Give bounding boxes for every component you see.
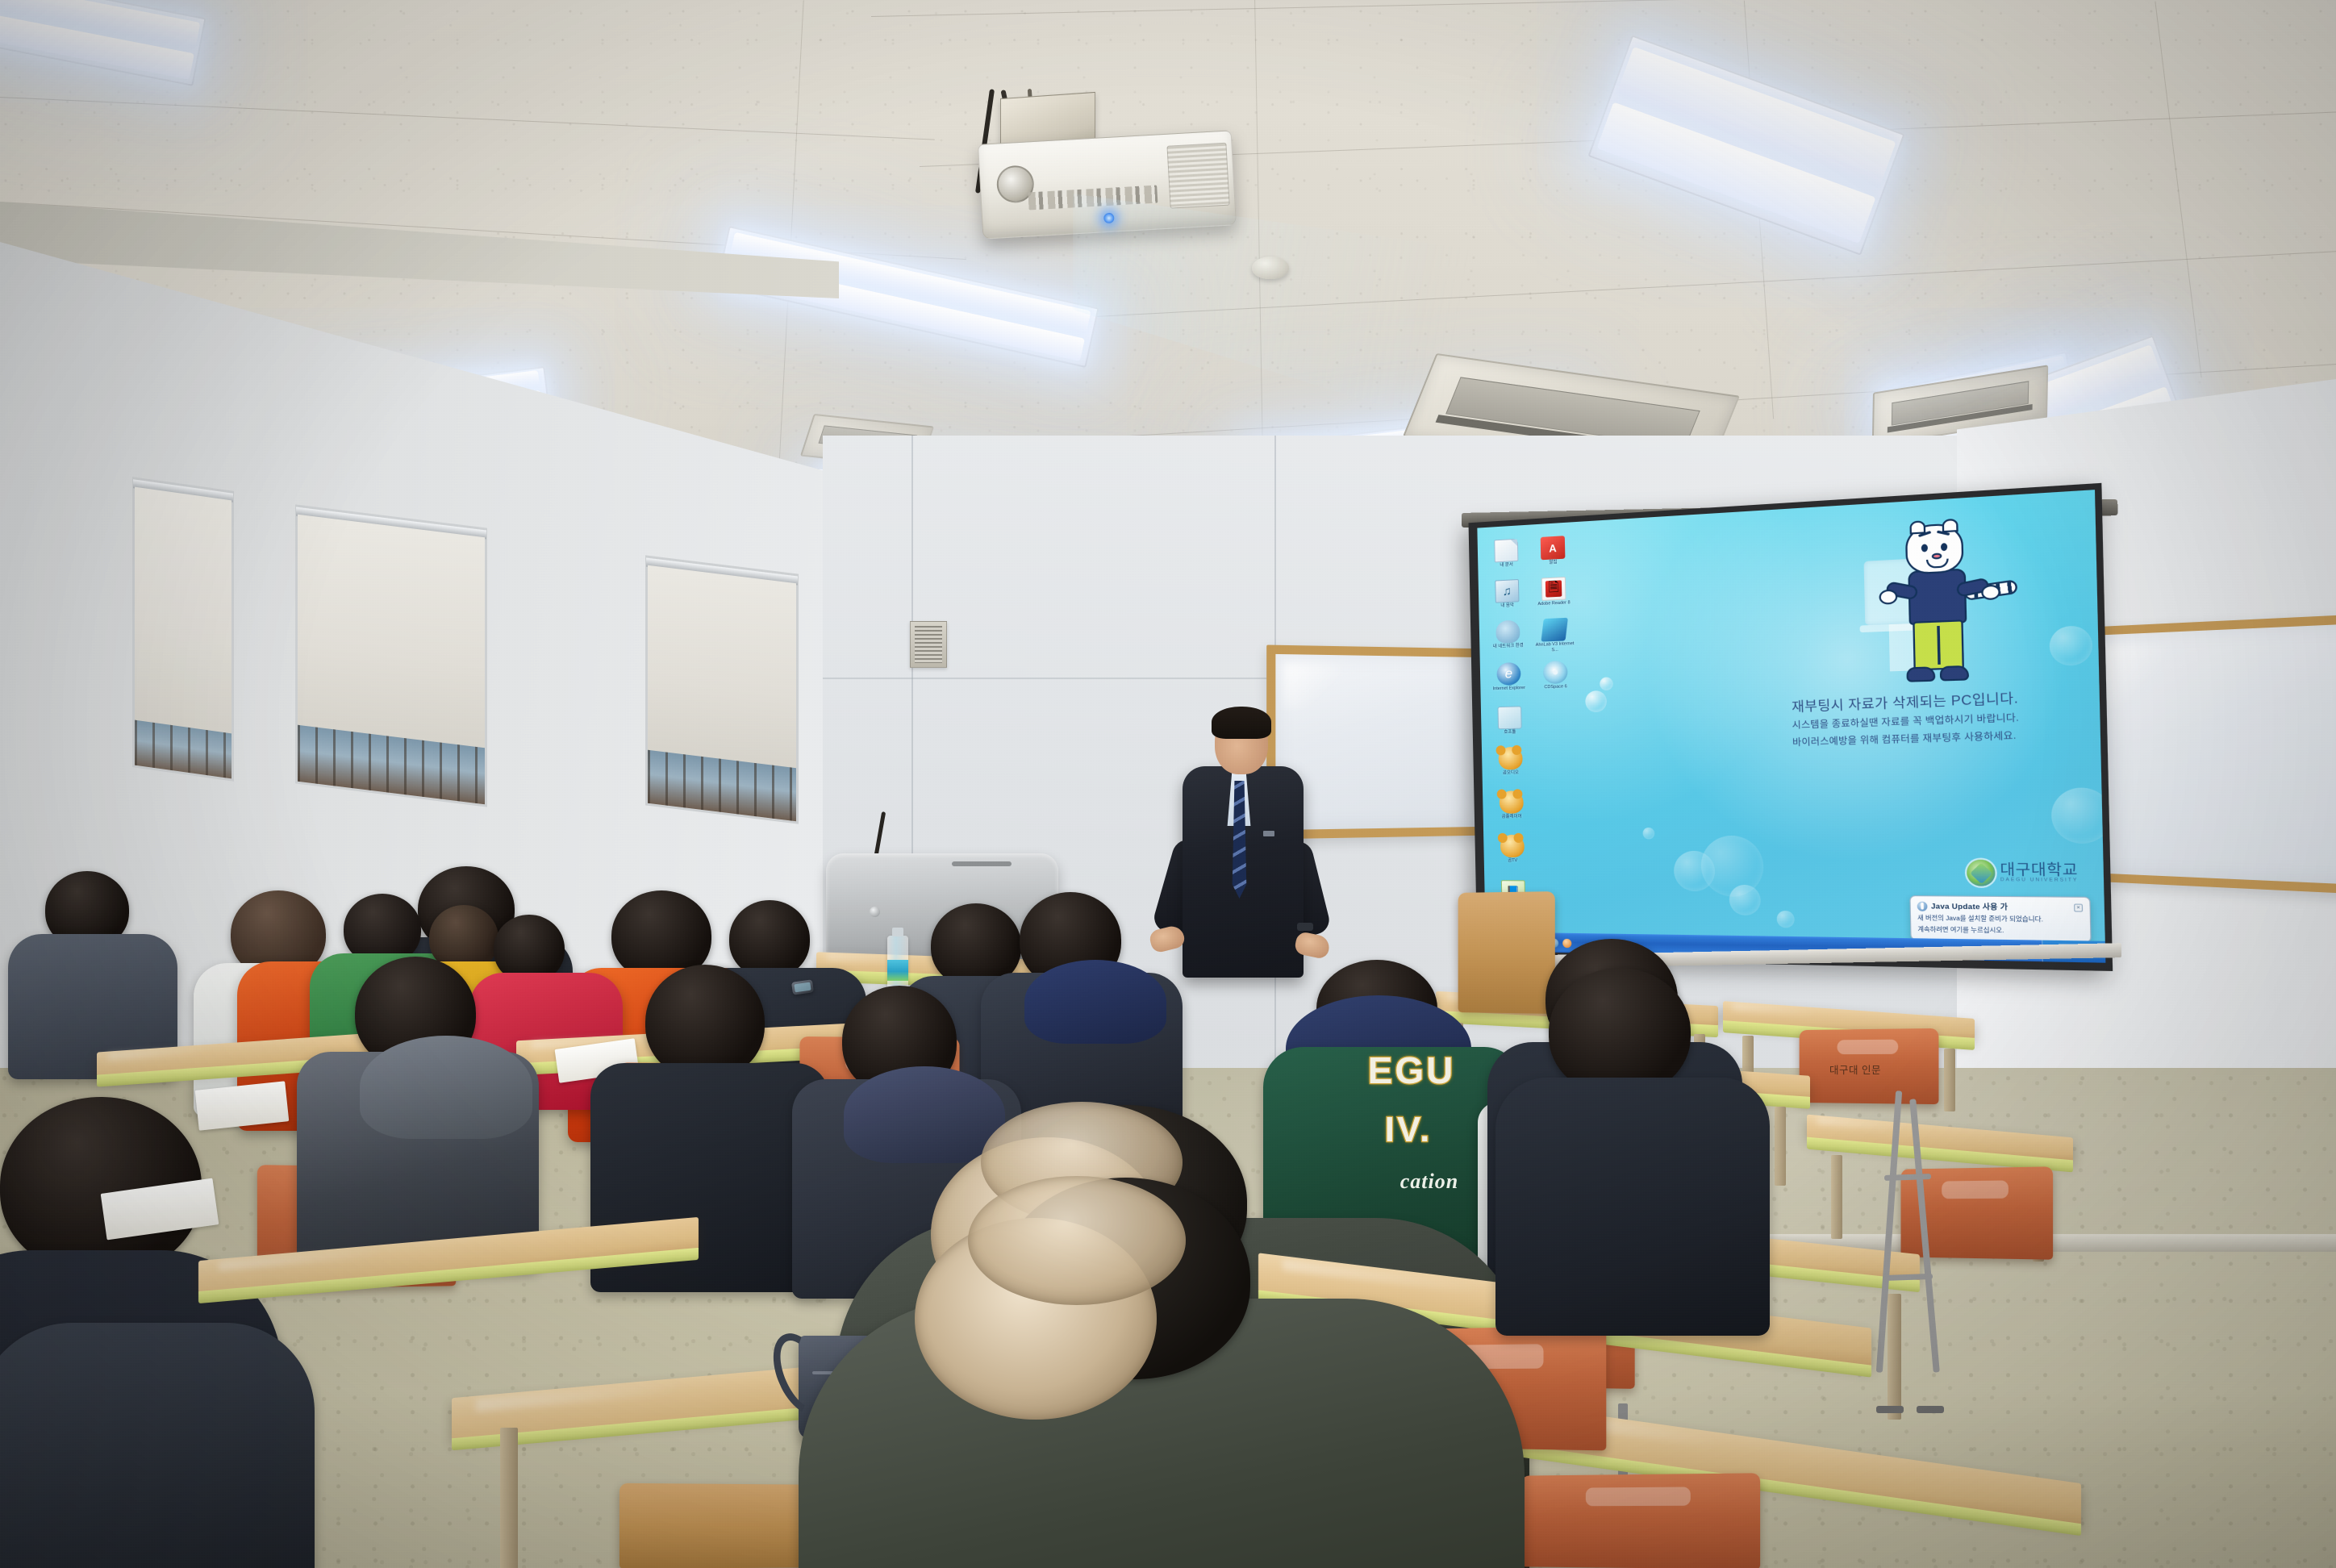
desktop-icon-internet-explorer[interactable]: Internet Explorer	[1487, 661, 1532, 692]
antivirus-icon	[1541, 618, 1568, 642]
balloon-body-line-2: 계속하려면 여기를 누르십시오.	[1917, 925, 2084, 936]
wallpaper-bubble	[2050, 787, 2105, 844]
window-with-roller-blind	[132, 477, 234, 782]
desktop-icon-gom-player[interactable]: 곰플레이어	[1489, 790, 1534, 819]
close-icon[interactable]: ×	[2074, 903, 2083, 911]
network-icon	[1495, 619, 1520, 643]
desk-leg	[1831, 1155, 1842, 1239]
desktop-icon-my-network-places[interactable]: 내 네트워크 환경	[1486, 619, 1531, 650]
browser-icon	[1496, 662, 1520, 686]
university-logo: 대구대학교 DAEGU UNIVERSITY	[1967, 860, 2078, 887]
disc-icon	[1543, 661, 1568, 684]
lectern-knob	[870, 907, 880, 917]
classroom-chair	[1521, 1473, 1760, 1568]
classroom-chair	[1458, 891, 1555, 1014]
lectern-slot	[952, 861, 1012, 866]
wallpaper-bubble	[1729, 885, 1761, 915]
wallpaper-bubble	[1642, 828, 1654, 840]
pdf-icon	[1541, 577, 1566, 601]
mascot-mouth	[1926, 559, 1949, 569]
desk-leg	[500, 1428, 518, 1568]
university-name-kr: 대구대학교	[2000, 862, 2078, 878]
roller-blind	[298, 515, 485, 753]
projected-desktop[interactable]: 내 문서 알집 내 음악 Adobe Reader 8 내 네트워크 환경	[1477, 490, 2105, 963]
instructor-in-suit	[1155, 703, 1349, 978]
university-name-en: DAEGU UNIVERSITY	[2000, 878, 2079, 884]
mascot-ear	[1942, 519, 1958, 532]
mascot-shoe	[1940, 665, 1969, 682]
desktop-icon-cdspace[interactable]: CDSpace 6	[1533, 660, 1579, 690]
mascot-hand	[1981, 585, 2000, 601]
mascot-eye	[1941, 543, 1947, 551]
mascot-pants	[1913, 619, 1964, 670]
projector-power-led	[1103, 213, 1115, 224]
desktop-icon-aljip[interactable]: 알집	[1530, 535, 1576, 566]
java-update-balloon-tooltip[interactable]: Java Update 사용 가 × 새 버전의 Java를 설치할 준비가 되…	[1909, 895, 2091, 943]
projector-ports	[1028, 186, 1158, 211]
mascot-shoe	[1906, 666, 1935, 682]
gom-bear-icon	[1500, 835, 1525, 857]
wallpaper-bubble	[2049, 625, 2092, 666]
instructor-wristwatch	[1297, 923, 1313, 931]
wallpaper-notice-text: 재부팅시 자료가 삭제되는 PC입니다. 시스템을 종료하실땐 자료를 꼭 백업…	[1792, 690, 2091, 749]
document-icon	[1494, 539, 1518, 563]
wallpaper-bubble	[1585, 690, 1607, 712]
window-with-roller-blind	[295, 504, 487, 807]
projector-vent	[1166, 143, 1229, 209]
water-bottle	[887, 936, 908, 992]
balloon-body-line-1: 새 버전의 Java를 설치할 준비가 되었습니다.	[1917, 914, 2084, 924]
desk-leg	[1775, 1107, 1786, 1186]
tiger-mascot-at-computer	[1871, 518, 2043, 710]
mascot-head	[1905, 523, 1964, 575]
bottle-label	[887, 960, 908, 981]
tool-icon	[1497, 706, 1521, 729]
gom-bear-icon	[1500, 790, 1524, 813]
ceiling-mounted-projector	[978, 130, 1237, 239]
gom-bear-icon	[1499, 747, 1523, 770]
wallpaper-bubble	[1600, 677, 1613, 690]
desktop-icon-adobe-reader[interactable]: Adobe Reader 8	[1531, 576, 1577, 607]
music-note-icon	[1495, 579, 1519, 603]
desktop-icon-ahnlab-v3[interactable]: AhnLab V3 Internet S...	[1532, 617, 1578, 653]
bottle-cap	[892, 928, 903, 936]
classroom-photo: 내 문서 알집 내 음악 Adobe Reader 8 내 네트워크 환경	[0, 0, 2336, 1568]
metal-stand	[1871, 1091, 1960, 1413]
desktop-icon-gom-tv[interactable]: 곰TV	[1490, 835, 1535, 864]
wallpaper-bubble	[1777, 911, 1795, 928]
roller-blind	[648, 565, 796, 774]
university-emblem-icon	[1967, 860, 1996, 886]
ceiling-smoke-detector	[1252, 256, 1289, 279]
chair-stamp-label: 대구대 인문	[1829, 1061, 1881, 1077]
roller-blind	[135, 487, 232, 740]
desktop-icon-my-music[interactable]: 내 음악	[1485, 578, 1530, 609]
mascot-shirt	[1908, 569, 1967, 626]
desktop-icon-grid[interactable]: 내 문서 알집 내 음악 Adobe Reader 8 내 네트워크 환경	[1483, 535, 1579, 540]
desktop-icon-gom-audio[interactable]: 곰오디오	[1488, 747, 1533, 777]
balloon-title: Java Update 사용 가	[1931, 901, 2008, 912]
instructor-hair	[1212, 707, 1271, 739]
window-with-roller-blind	[645, 555, 799, 824]
mascot-eye	[1921, 544, 1928, 552]
archive-icon	[1541, 536, 1566, 560]
projection-screen[interactable]: 내 문서 알집 내 음악 Adobe Reader 8 내 네트워크 환경	[1468, 483, 2113, 971]
desktop-icon-hopetool[interactable]: 호프툴	[1487, 706, 1533, 736]
java-icon	[1917, 901, 1928, 911]
desktop-icon-my-documents[interactable]: 내 문서	[1483, 538, 1529, 569]
instructor-lapel-pin	[1263, 831, 1274, 836]
media-player-icon[interactable]	[1563, 938, 1572, 947]
whiteboard	[2075, 614, 2336, 895]
wall-mounted-vent-box	[910, 621, 947, 668]
